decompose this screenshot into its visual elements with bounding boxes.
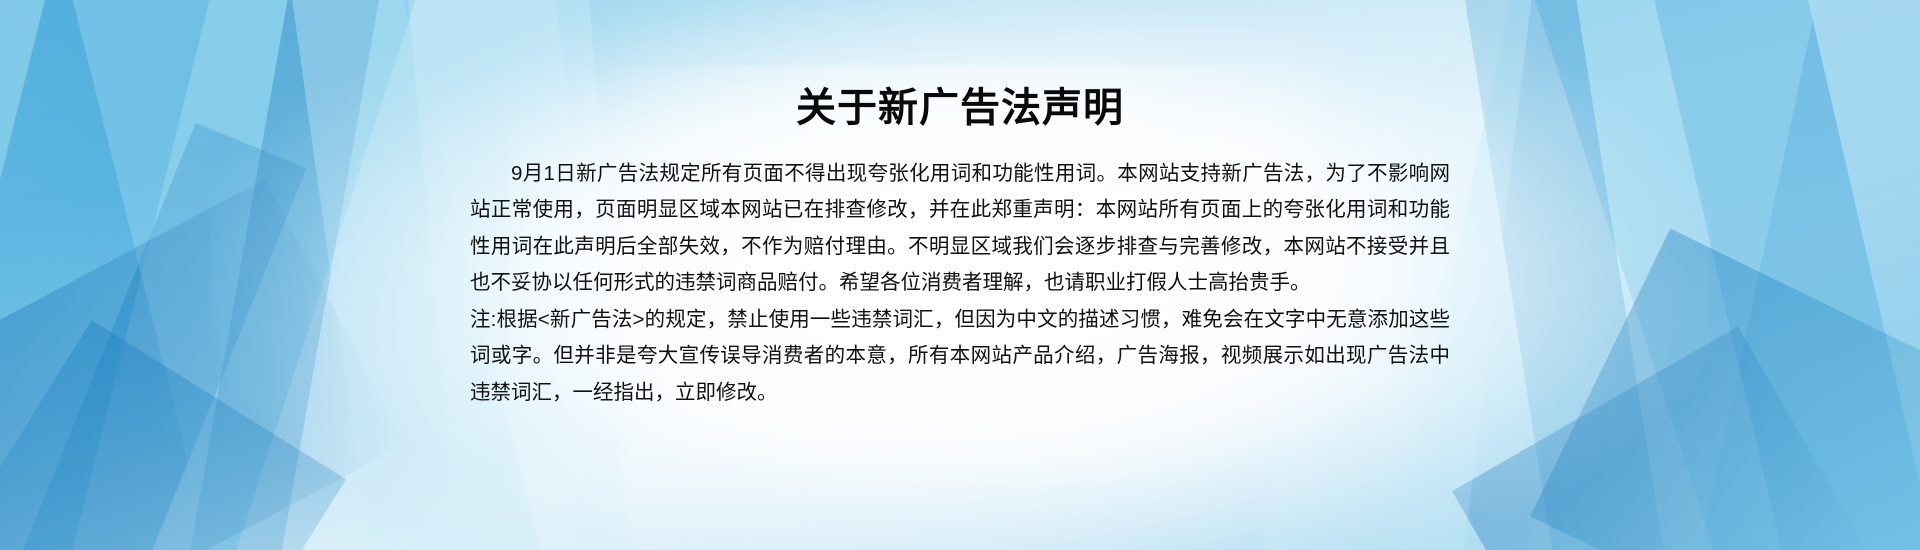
statement-paragraph-main: 9月1日新广告法规定所有页面不得出现夸张化用词和功能性用词。本网站支持新广告法，… — [470, 156, 1450, 302]
advertising-law-statement-banner: 关于新广告法声明 9月1日新广告法规定所有页面不得出现夸张化用词和功能性用词。本… — [0, 0, 1920, 550]
page-title: 关于新广告法声明 — [796, 84, 1124, 132]
statement-paragraph-note: 注:根据<新广告法>的规定，禁止使用一些违禁词汇，但因为中文的描述习惯，难免会在… — [470, 302, 1450, 411]
statement-body: 9月1日新广告法规定所有页面不得出现夸张化用词和功能性用词。本网站支持新广告法，… — [470, 156, 1450, 411]
statement-content: 关于新广告法声明 9月1日新广告法规定所有页面不得出现夸张化用词和功能性用词。本… — [0, 0, 1920, 550]
